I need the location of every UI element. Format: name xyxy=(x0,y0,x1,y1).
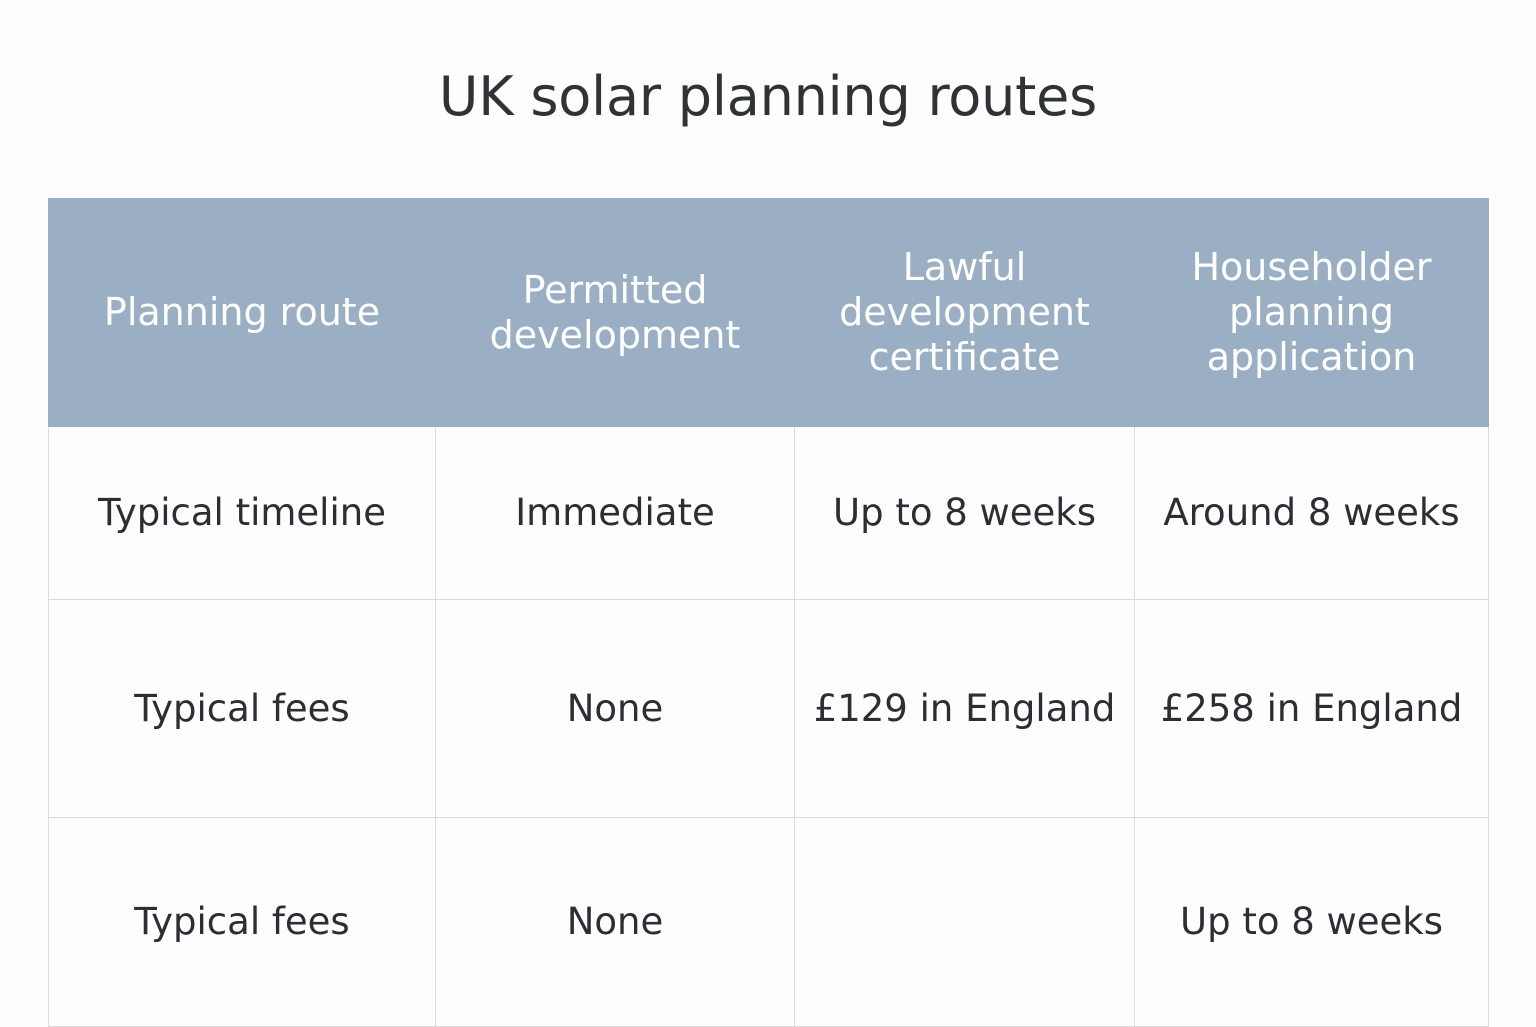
cell-fees-householder-planning-application: £258 in England xyxy=(1135,600,1489,818)
cell-timeline-lawful-development-certificate: Up to 8 weeks xyxy=(795,427,1135,600)
row-label-typical-fees-2: Typical fees xyxy=(49,818,436,1027)
table-body: Typical timeline Immediate Up to 8 weeks… xyxy=(49,427,1489,1027)
table-header-row: Planning route Permitted development Law… xyxy=(49,199,1489,427)
column-header-lawful-development-certificate: Lawful development certificate xyxy=(795,199,1135,427)
cell-fees-lawful-development-certificate: £129 in England xyxy=(795,600,1135,818)
cell-timeline-householder-planning-application: Around 8 weeks xyxy=(1135,427,1489,600)
cell-fees2-permitted-development: None xyxy=(436,818,795,1027)
column-header-permitted-development: Permitted development xyxy=(436,199,795,427)
table-row: Typical timeline Immediate Up to 8 weeks… xyxy=(49,427,1489,600)
page-root: UK solar planning routes Planning route … xyxy=(0,0,1536,1024)
planning-routes-table-container: Planning route Permitted development Law… xyxy=(48,198,1488,965)
column-header-planning-route: Planning route xyxy=(49,199,436,427)
cell-timeline-permitted-development: Immediate xyxy=(436,427,795,600)
cell-fees2-lawful-development-certificate xyxy=(795,818,1135,1027)
table-row: Typical fees None Up to 8 weeks xyxy=(49,818,1489,1027)
page-title: UK solar planning routes xyxy=(0,66,1536,128)
row-label-typical-timeline: Typical timeline xyxy=(49,427,436,600)
column-header-householder-planning-application: Householder planning application xyxy=(1135,199,1489,427)
row-label-typical-fees-1: Typical fees xyxy=(49,600,436,818)
table-row: Typical fees None £129 in England £258 i… xyxy=(49,600,1489,818)
table-header: Planning route Permitted development Law… xyxy=(49,199,1489,427)
cell-fees-permitted-development: None xyxy=(436,600,795,818)
cell-fees2-householder-planning-application: Up to 8 weeks xyxy=(1135,818,1489,1027)
planning-routes-table: Planning route Permitted development Law… xyxy=(48,198,1489,1027)
